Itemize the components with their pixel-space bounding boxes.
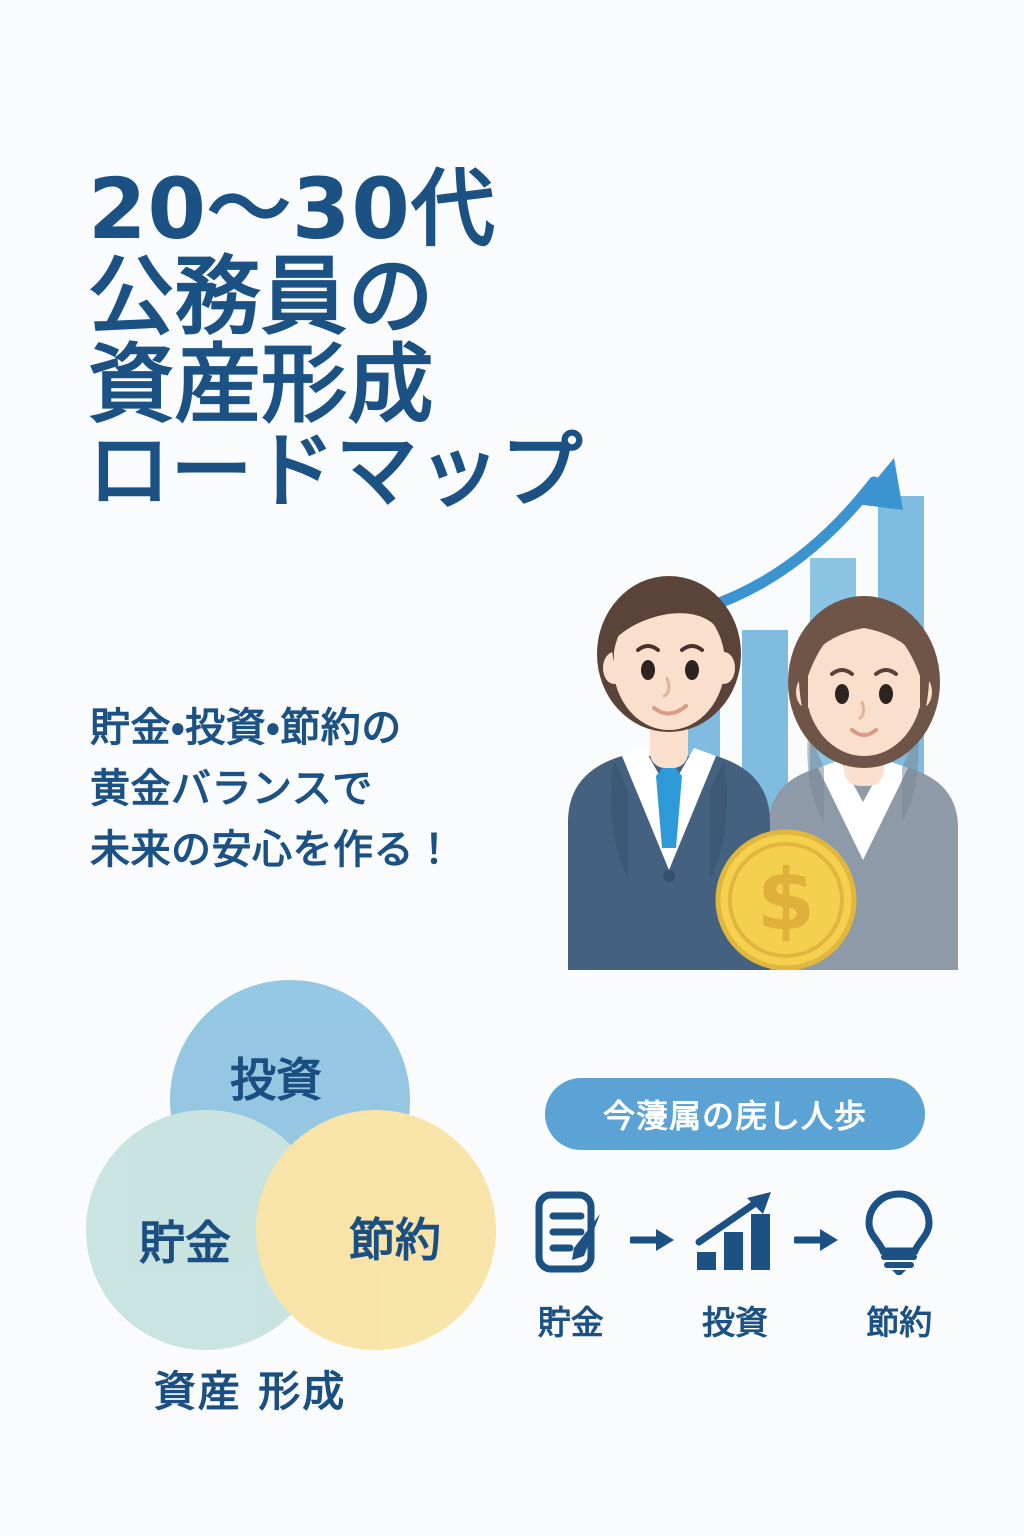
step-label-savings: 貯金 (538, 1296, 604, 1344)
subtitle-line-3: 未来の安心を作る！ (90, 820, 560, 881)
step-savings: 貯金 (520, 1184, 622, 1344)
step-arrow-1 (628, 1192, 679, 1288)
step-label-frugality: 節約 (866, 1296, 932, 1344)
steps-pill-badge: 今薓属の庑し人歩 (545, 1078, 925, 1150)
steps-pill-label: 今薓属の庑し人歩 (603, 1091, 867, 1137)
bar-chart-arrow-icon (693, 1184, 777, 1280)
venn-label-investment: 投資 (230, 1053, 322, 1107)
couple-illustration: $ (556, 430, 996, 970)
venn-label-frugality: 節約 (349, 1213, 441, 1267)
step-arrow-2 (792, 1192, 843, 1288)
venn-caption: 資産 形成 (0, 1358, 500, 1419)
gold-coin-icon: $ (718, 832, 854, 968)
steps-row: 貯金 投資 (520, 1184, 950, 1344)
poster-subtitle: 貯金・投資・節約の 黄金バランスで 未来の安心を作る！ (90, 698, 560, 880)
step-investment: 投資 (684, 1184, 786, 1344)
steps-panel: 今薓属の庑し人歩 貯金 (520, 1078, 950, 1344)
subtitle-line-1: 貯金・投資・節約の (90, 698, 560, 759)
subtitle-line-2: 黄金バランスで (90, 759, 560, 820)
title-line-2: 公務員の (88, 253, 648, 342)
step-label-investment: 投資 (702, 1296, 768, 1344)
venn-label-savings: 貯金 (139, 1216, 231, 1270)
note-pen-icon (534, 1184, 608, 1280)
poster-root: 20〜30代 公務員の 資産形成 ロードマップ 貯金・投資・節約の 黄金バランス… (0, 0, 1024, 1536)
title-line-1: 20〜30代 (88, 166, 648, 253)
step-frugality: 節約 (849, 1184, 951, 1344)
lightbulb-icon (863, 1184, 935, 1280)
coin-dollar-symbol: $ (757, 851, 815, 949)
title-line-3: 資産形成 (88, 341, 648, 430)
